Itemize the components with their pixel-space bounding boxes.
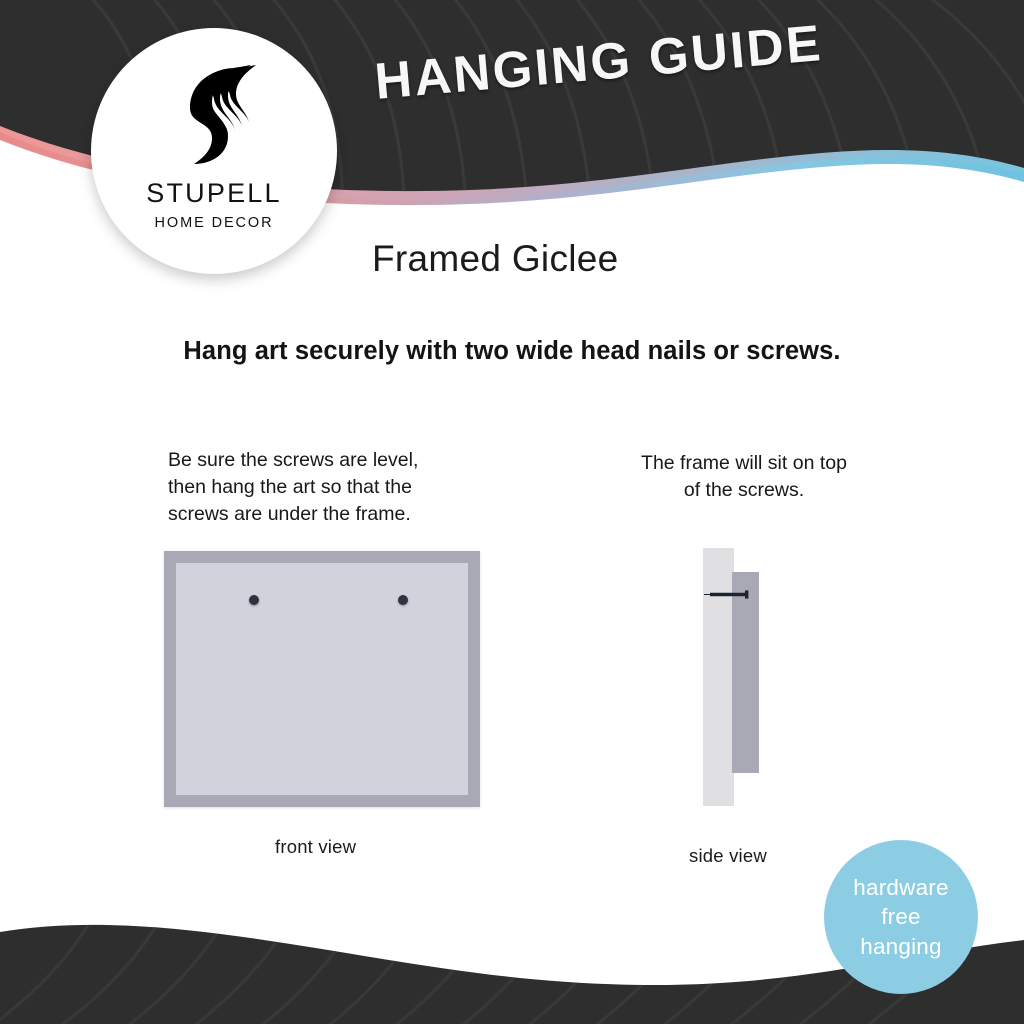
nail-icon — [704, 590, 754, 599]
side-caption-line-2: of the screws. — [600, 477, 888, 504]
side-view-frame-strip — [732, 572, 759, 773]
front-caption-line-1: Be sure the screws are level, — [168, 447, 468, 474]
front-view-frame-diagram — [164, 551, 480, 807]
main-instruction-text: Hang art securely with two wide head nai… — [0, 337, 1024, 366]
badge-line-3: hanging — [860, 932, 941, 961]
front-caption-line-2: then hang the art so that the — [168, 474, 468, 501]
front-view-caption: Be sure the screws are level, then hang … — [168, 447, 468, 528]
screw-dot-right — [398, 595, 408, 605]
hardware-free-hanging-badge: hardware free hanging — [824, 840, 978, 994]
badge-line-2: free — [881, 902, 921, 931]
side-caption-line-1: The frame will sit on top — [600, 450, 888, 477]
screw-dot-left — [249, 595, 259, 605]
badge-line-1: hardware — [853, 873, 948, 902]
side-view-wall-strip — [703, 548, 734, 806]
side-view-label: side view — [689, 845, 767, 867]
logo-subtitle: HOME DECOR — [155, 216, 274, 231]
front-view-mat-area — [176, 563, 468, 795]
front-caption-line-3: screws are under the frame. — [168, 501, 468, 528]
hanging-guide-page: STUPELL HOME DECOR HANGING GUIDE Framed … — [0, 0, 1024, 1024]
stupell-logo-badge: STUPELL HOME DECOR — [91, 28, 337, 274]
side-view-frame-diagram — [695, 546, 795, 808]
side-view-caption: The frame will sit on top of the screws. — [600, 450, 888, 504]
stupell-swoosh-mark — [154, 54, 274, 174]
logo-name: STUPELL — [146, 180, 281, 207]
product-type-heading: Framed Giclee — [372, 238, 619, 280]
front-view-label: front view — [275, 836, 356, 858]
